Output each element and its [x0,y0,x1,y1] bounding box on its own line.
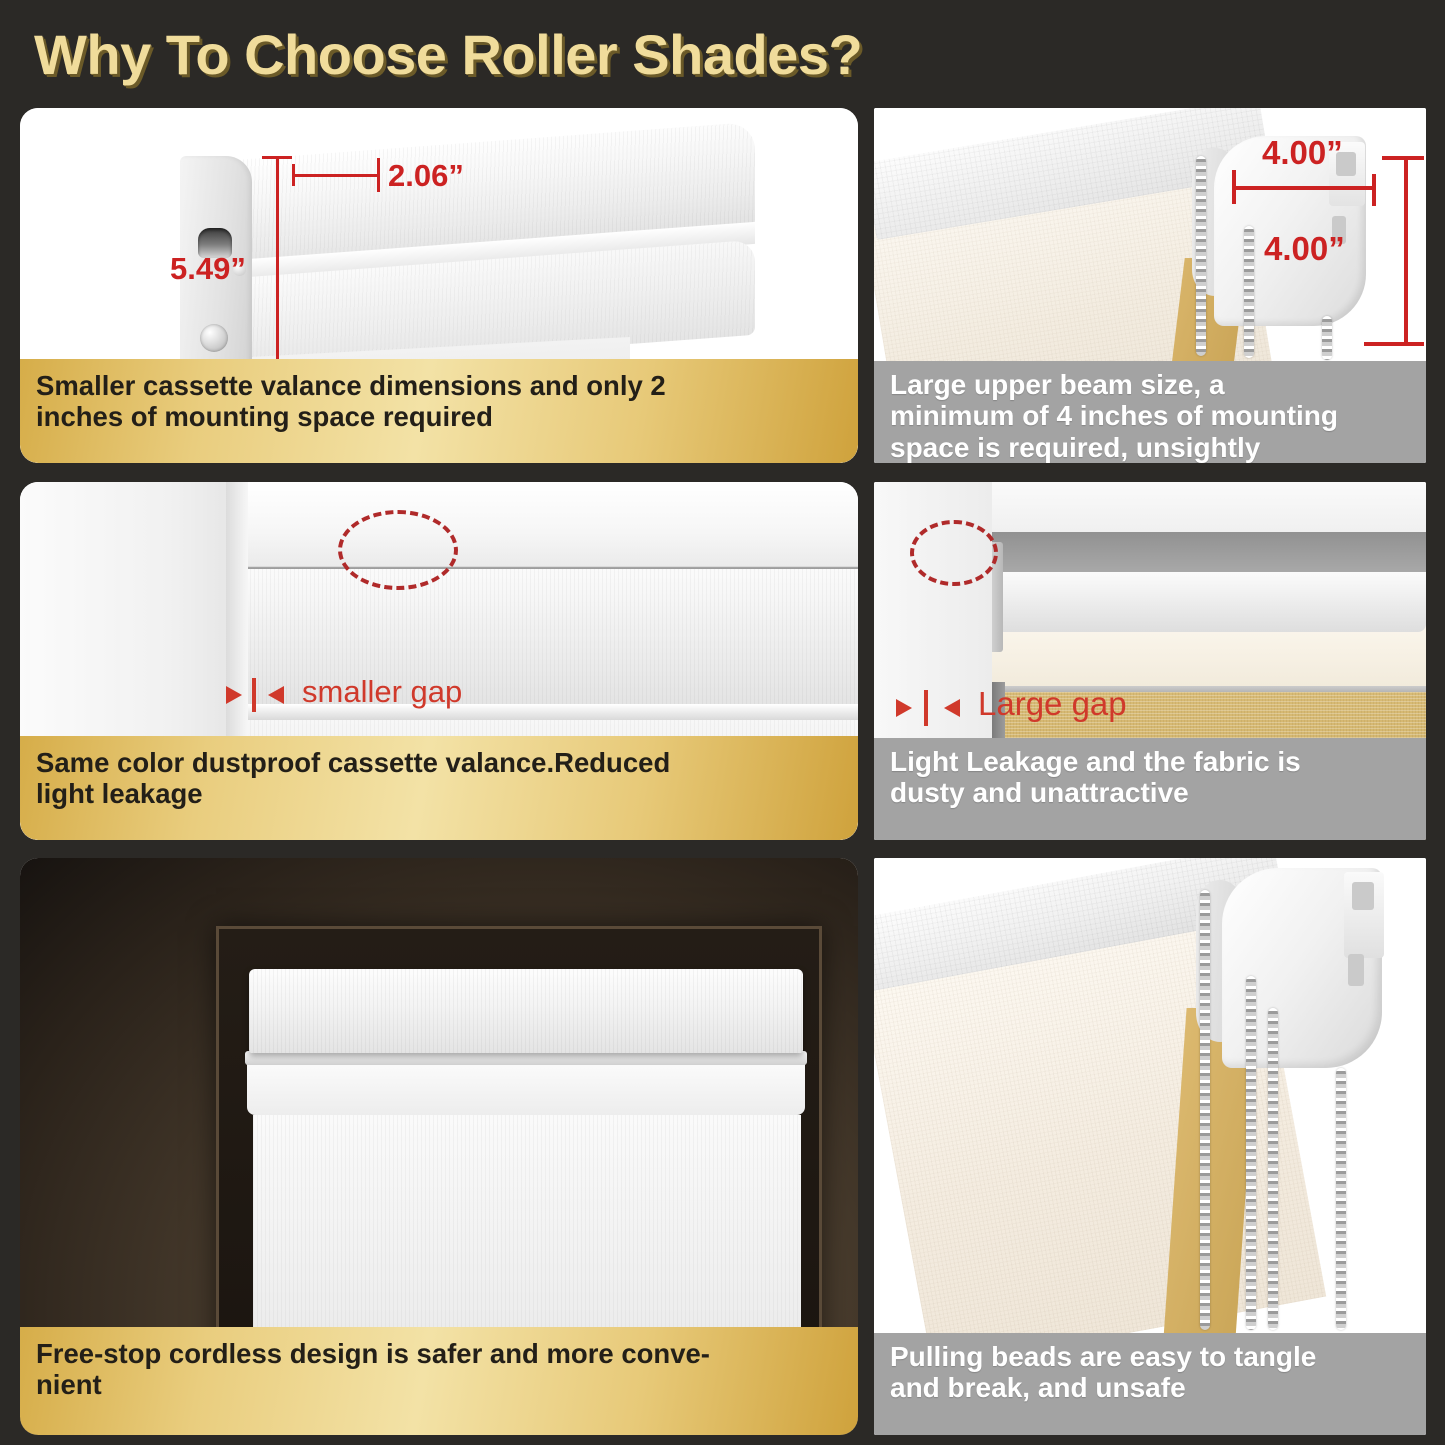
beam-width-tick-right [1372,174,1376,206]
caption-line-2: light leakage [36,779,842,810]
bead-chain-middle [1246,976,1256,1330]
width-dim-tick-right [377,158,380,192]
bead-chain-right [1322,316,1332,360]
panel-cordless-design: Free-stop cordless design is safer and m… [20,858,858,1435]
gap-arrow-right [944,699,960,717]
caption-line-1: Large upper beam size, a [890,369,1410,400]
panel-pulling-beads: Pulling beads are easy to tangle and bre… [874,858,1426,1435]
bead-chain-right [1336,1068,1346,1330]
caption-line-1: Smaller cassette valance dimensions and … [36,371,842,402]
top-gap-highlight-ellipse [338,510,458,590]
beam-height-tick-bottom [1364,342,1424,346]
width-dimension-label: 2.06” [388,158,464,194]
cassette-lower [247,1063,805,1115]
panel-dustproof-valance: smaller gap Same color dustproof cassett… [20,482,858,840]
roller-tube-face [992,564,1426,632]
caption-line-1: Light Leakage and the fabric is [890,746,1410,777]
caption-line-2: and break, and unsafe [890,1372,1410,1403]
shadow-band [992,528,1426,572]
bracket-notch-top [1352,882,1374,910]
smaller-gap-label: smaller gap [302,674,462,710]
cream-fabric-band [992,624,1426,686]
beam-width-tick-left [1232,170,1236,204]
caption-pulling-beads: Pulling beads are easy to tangle and bre… [874,1333,1426,1435]
caption-line-1: Pulling beads are easy to tangle [890,1341,1410,1372]
large-gap-label: Large gap [978,685,1127,723]
bead-chain-left [1200,890,1210,1330]
caption-line-2: inches of mounting space required [36,402,842,433]
panel-cassette-dimensions: 5.49” 2.06” Smaller cassette valance dim… [20,108,858,463]
caption-line-3: space is required, unsightly [890,432,1410,463]
comparison-grid: 5.49” 2.06” Smaller cassette valance dim… [0,108,1445,1445]
gap-tick-mark [924,690,928,726]
panel-light-leakage: Large gap Light Leakage and the fabric i… [874,482,1426,840]
caption-large-upper-beam: Large upper beam size, a minimum of 4 in… [874,361,1426,463]
bead-chain-middle [1244,226,1254,358]
beam-height-tick-top [1382,156,1424,160]
gap-arrow-left [896,699,912,717]
page-title: Why To Choose Roller Shades? [34,22,862,87]
caption-line-2: minimum of 4 inches of mounting [890,400,1410,431]
window-head-trim [206,482,858,567]
width-dim-tick-left [292,164,295,186]
caption-line-2: dusty and unattractive [890,777,1410,808]
cassette-lip [245,1051,807,1065]
height-dim-tick-top [262,156,292,159]
caption-line-1: Free-stop cordless design is safer and m… [36,1339,842,1370]
caption-cordless-design: Free-stop cordless design is safer and m… [20,1327,858,1435]
caption-line-2: nient [36,1370,842,1401]
bead-chain-left [1196,156,1206,356]
panel-large-upper-beam: 4.00” 4.00” Large upper beam size, a min… [874,108,1426,463]
bead-chain-inner [1268,1008,1278,1330]
gap-tick-mark [252,678,256,712]
beam-height-label: 4.00” [1264,230,1345,268]
width-dim-line [292,174,380,177]
beam-width-dim-line [1232,186,1376,190]
bracket-notch-mid [1348,954,1364,986]
mount-gap-highlight-ellipse [910,520,998,586]
gap-arrow-left [226,686,242,704]
gap-arrow-right [268,686,284,704]
beam-width-label: 4.00” [1262,134,1343,172]
infographic-page: Why To Choose Roller Shades? 5.49” [0,0,1445,1445]
cassette-valance [249,969,803,1053]
height-dimension-label: 5.49” [170,251,246,287]
ceiling-band [974,482,1426,532]
caption-cassette-dimensions: Smaller cassette valance dimensions and … [20,359,858,463]
caption-line-1: Same color dustproof cassette valance.Re… [36,748,842,779]
beam-height-dim-line [1404,156,1408,346]
caption-dustproof-valance: Same color dustproof cassette valance.Re… [20,736,858,840]
caption-light-leakage: Light Leakage and the fabric is dusty an… [874,738,1426,840]
end-cap-screw [200,324,228,352]
